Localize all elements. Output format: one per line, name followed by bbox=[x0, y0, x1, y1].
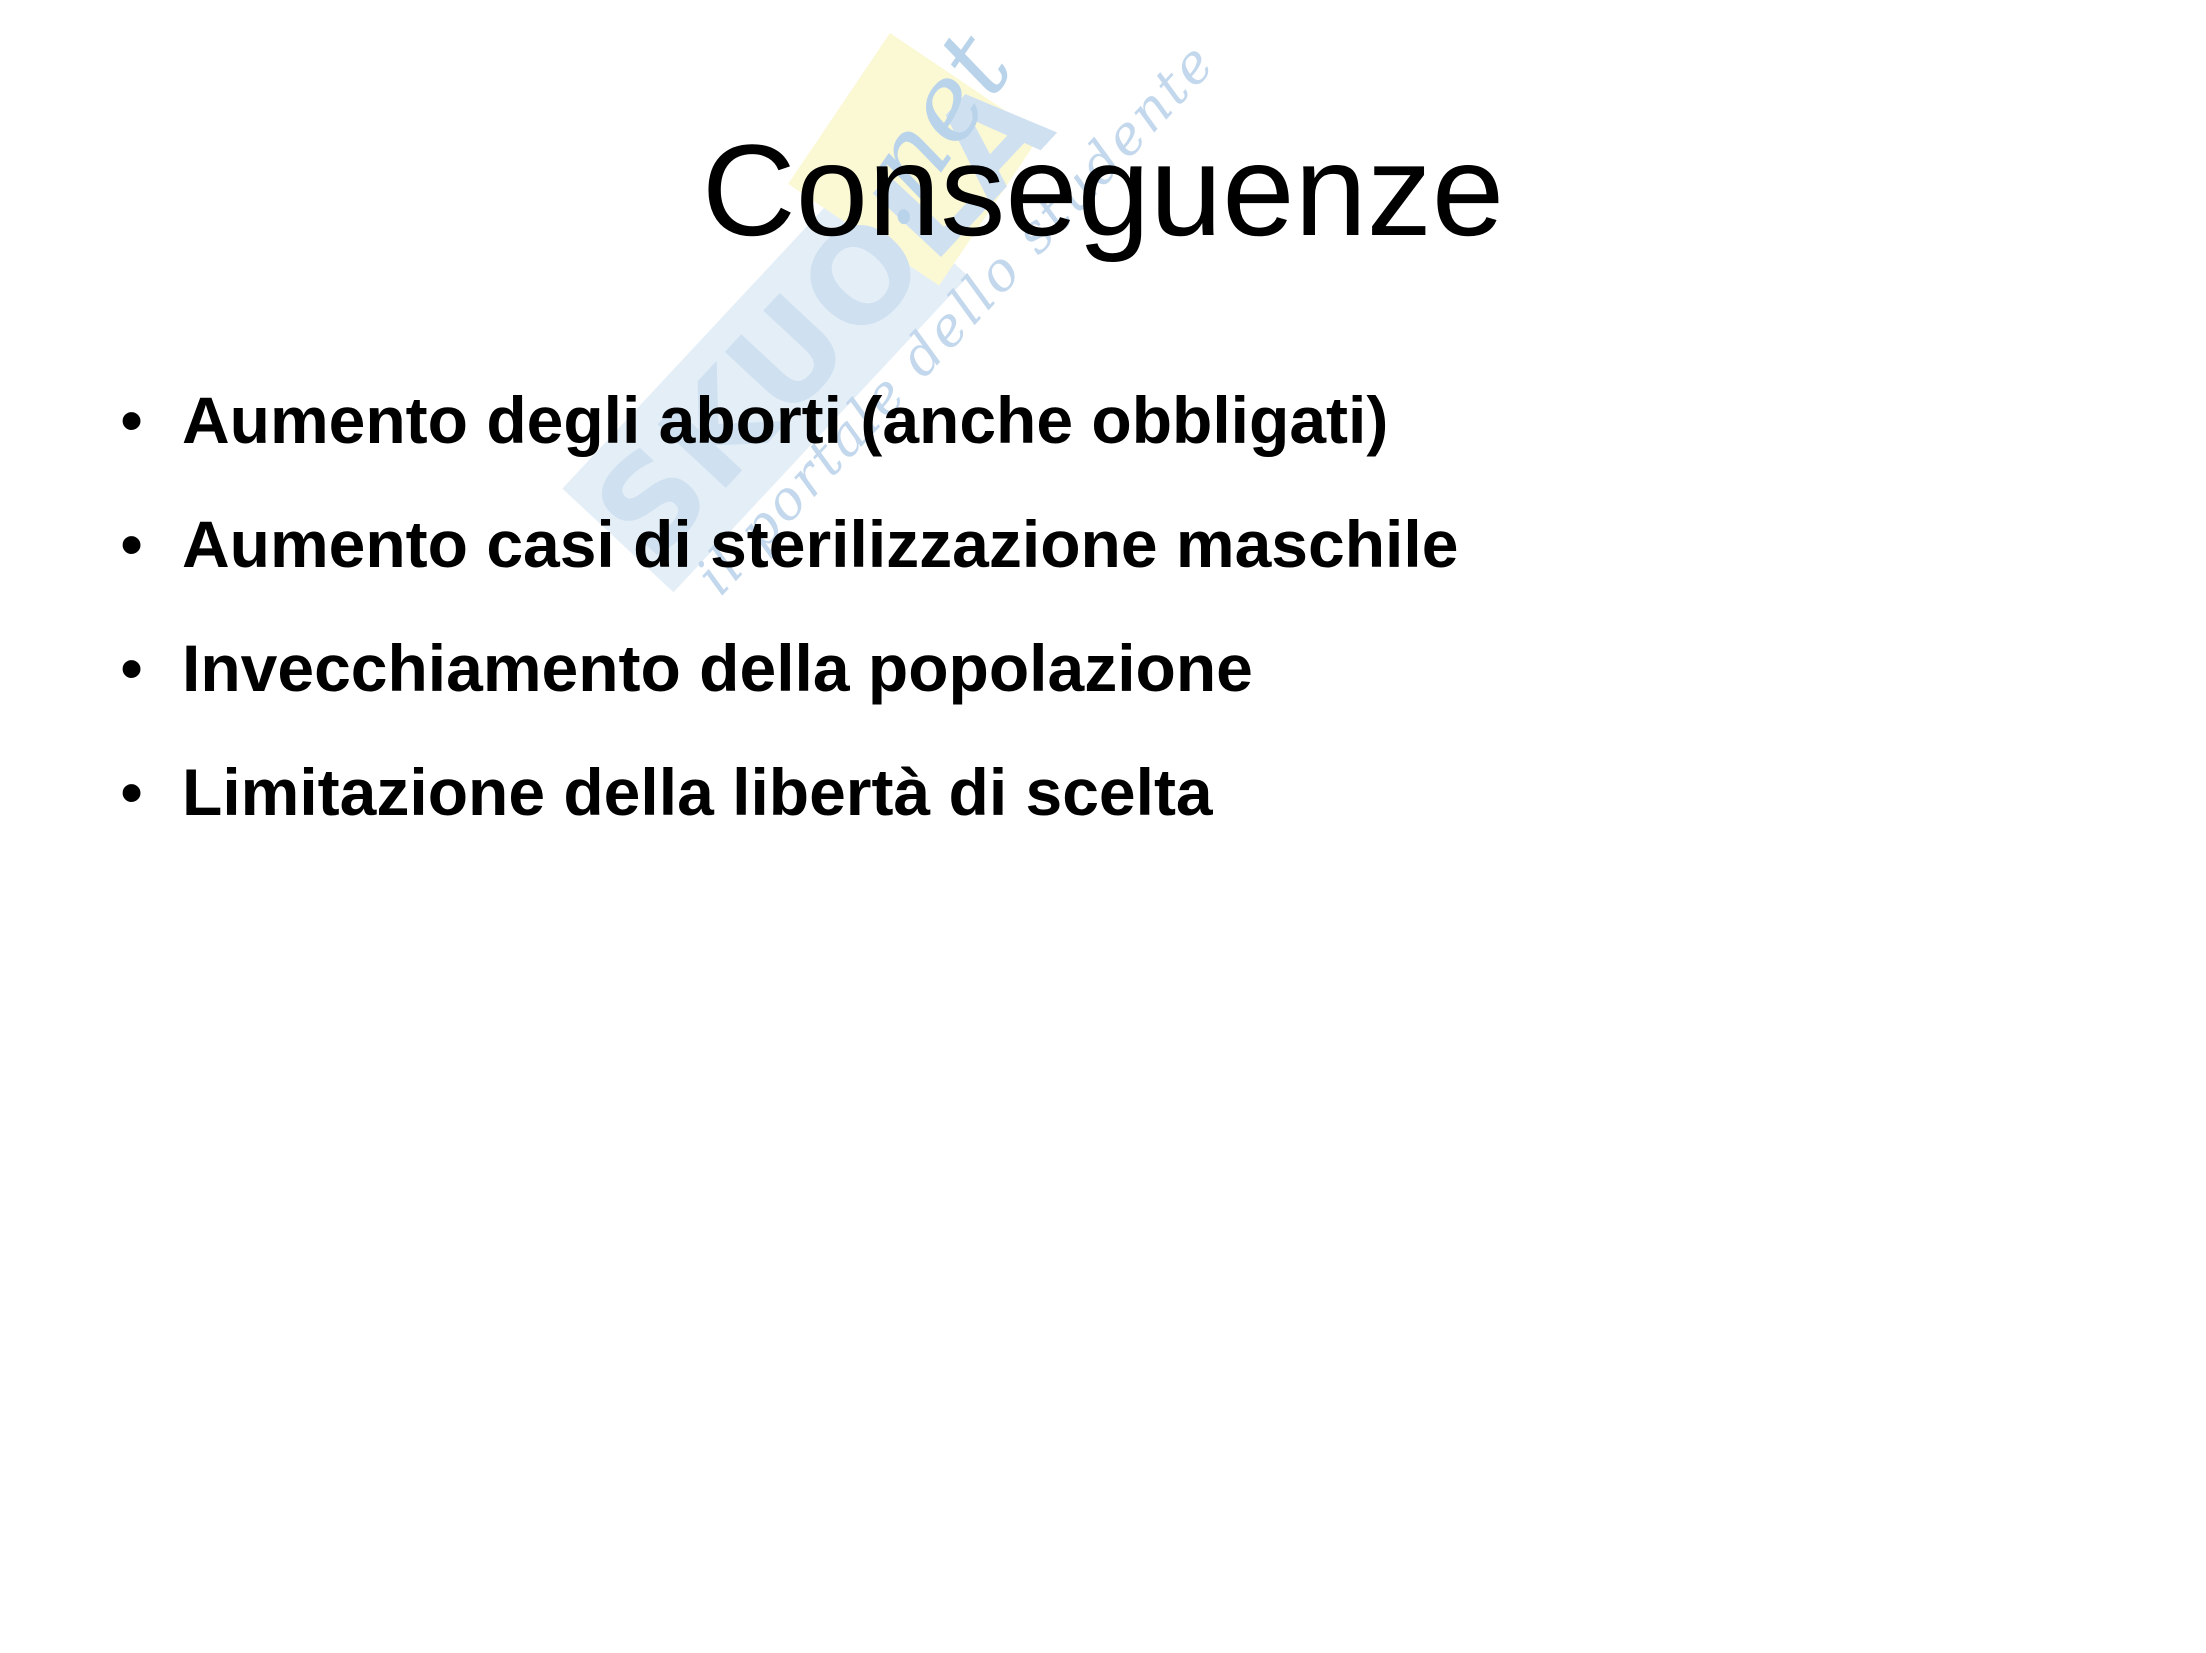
list-item-label: Aumento casi di sterilizzazione maschile bbox=[182, 496, 2080, 592]
list-item-label: Limitazione della libertà di scelta bbox=[182, 744, 2080, 840]
list-item: • Invecchiamento della popolazione bbox=[120, 620, 2080, 744]
bullet-point-icon: • bbox=[120, 496, 182, 592]
list-item-label: Invecchiamento della popolazione bbox=[182, 620, 2080, 716]
slide-canvas: SKUOLA .net il portale dello studente Co… bbox=[0, 0, 2206, 1653]
list-item-label: Aumento degli aborti (anche obbligati) bbox=[182, 372, 2080, 468]
bullet-list: • Aumento degli aborti (anche obbligati)… bbox=[120, 372, 2080, 868]
list-item: • Limitazione della libertà di scelta bbox=[120, 744, 2080, 868]
list-item: • Aumento degli aborti (anche obbligati) bbox=[120, 372, 2080, 496]
bullet-point-icon: • bbox=[120, 620, 182, 716]
page-title: Conseguenze bbox=[0, 120, 2206, 260]
list-item: • Aumento casi di sterilizzazione maschi… bbox=[120, 496, 2080, 620]
bullet-point-icon: • bbox=[120, 744, 182, 840]
bullet-point-icon: • bbox=[120, 372, 182, 468]
